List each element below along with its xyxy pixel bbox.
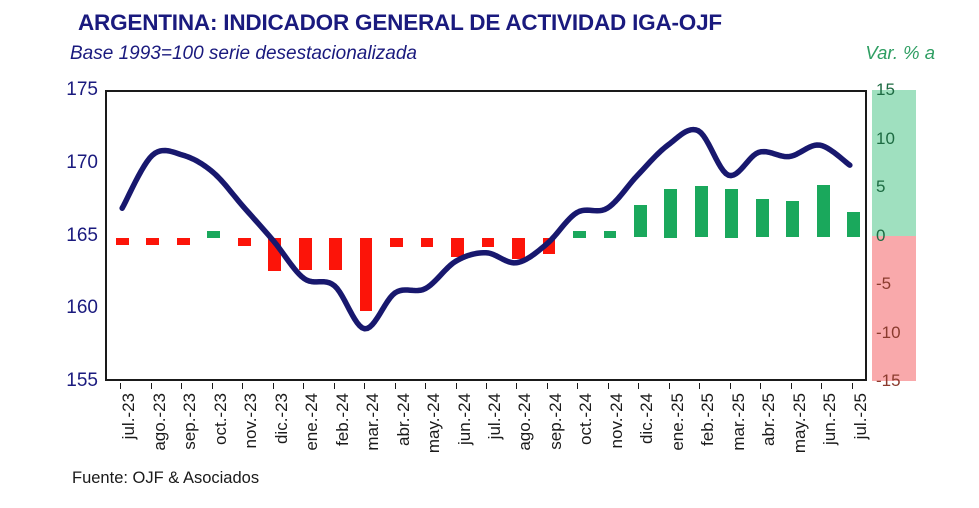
x-tick-mark	[364, 383, 365, 389]
x-tick-mark	[791, 383, 792, 389]
left-axis: 175170165160155	[38, 90, 98, 381]
x-axis-label: may.-25	[790, 393, 810, 477]
right-axis-tick-15: 15	[876, 81, 914, 98]
x-tick-mark	[242, 383, 243, 389]
x-axis-label: ago.-24	[515, 393, 535, 477]
right-axis-tick-5: 5	[876, 178, 914, 195]
x-axis-label: dic.-23	[272, 393, 292, 477]
x-tick-mark	[608, 383, 609, 389]
x-tick-mark	[151, 383, 152, 389]
left-axis-tick-165: 165	[46, 226, 98, 245]
x-axis-label: nov.-24	[607, 393, 627, 477]
right-axis-negative-band	[872, 236, 916, 382]
x-tick-mark	[821, 383, 822, 389]
x-tick-mark	[456, 383, 457, 389]
x-axis-label: ago.-23	[150, 393, 170, 477]
x-tick-mark	[577, 383, 578, 389]
right-axis-tick-0: 0	[876, 227, 914, 244]
chart-subtitle: Base 1993=100 serie desestacionalizada	[70, 43, 417, 65]
left-axis-tick-175: 175	[46, 80, 98, 99]
x-axis-label: ene.-24	[302, 393, 322, 477]
x-axis-label: mar.-25	[729, 393, 749, 477]
x-tick-mark	[638, 383, 639, 389]
x-tick-mark	[730, 383, 731, 389]
x-axis-label: jun.-25	[820, 393, 840, 477]
x-tick-mark	[395, 383, 396, 389]
x-tick-mark	[547, 383, 548, 389]
x-axis-label: jul.-25	[851, 393, 871, 477]
right-axis: 151050-5-10-15	[872, 90, 916, 381]
x-tick-mark	[486, 383, 487, 389]
right-axis-title: Var. % a	[865, 42, 935, 64]
x-axis-label: dic.-24	[637, 393, 657, 477]
x-axis-label: oct.-23	[211, 393, 231, 477]
x-axis-label: feb.-24	[333, 393, 353, 477]
x-axis-label: sep.-23	[180, 393, 200, 477]
right-axis-tick--10: -10	[876, 324, 914, 341]
x-tick-mark	[852, 383, 853, 389]
x-tick-mark	[425, 383, 426, 389]
right-axis-tick--15: -15	[876, 372, 914, 389]
plot-area	[105, 90, 867, 381]
right-axis-tick--5: -5	[876, 275, 914, 292]
x-axis-label: may.-24	[424, 393, 444, 477]
right-axis-tick-10: 10	[876, 130, 914, 147]
right-axis-positive-band	[872, 90, 916, 236]
x-axis-label: sep.-24	[546, 393, 566, 477]
x-tick-mark	[181, 383, 182, 389]
x-axis-label: jul.-23	[119, 393, 139, 477]
x-axis-label: jul.-24	[485, 393, 505, 477]
x-axis-label: mar.-24	[363, 393, 383, 477]
source-note: Fuente: OJF & Asociados	[72, 469, 259, 488]
page-title: ARGENTINA: INDICADOR GENERAL DE ACTIVIDA…	[78, 10, 722, 36]
x-tick-mark	[669, 383, 670, 389]
left-axis-tick-160: 160	[46, 298, 98, 317]
left-axis-tick-170: 170	[46, 153, 98, 172]
x-axis: jul.-23ago.-23sep.-23oct.-23nov.-23dic.-…	[105, 383, 867, 478]
x-axis-label: nov.-23	[241, 393, 261, 477]
left-axis-tick-155: 155	[46, 371, 98, 390]
index-line-path	[122, 130, 850, 329]
x-tick-mark	[516, 383, 517, 389]
x-axis-label: feb.-25	[698, 393, 718, 477]
x-tick-mark	[334, 383, 335, 389]
x-axis-label: oct.-24	[576, 393, 596, 477]
chart-page: ARGENTINA: INDICADOR GENERAL DE ACTIVIDA…	[0, 0, 979, 508]
x-tick-mark	[699, 383, 700, 389]
x-axis-label: ene.-25	[668, 393, 688, 477]
x-tick-mark	[120, 383, 121, 389]
x-tick-mark	[760, 383, 761, 389]
x-tick-mark	[273, 383, 274, 389]
x-tick-mark	[303, 383, 304, 389]
x-axis-label: jun.-24	[455, 393, 475, 477]
x-tick-mark	[212, 383, 213, 389]
x-axis-label: abr.-24	[394, 393, 414, 477]
line-series-layer	[107, 92, 865, 379]
x-axis-label: abr.-25	[759, 393, 779, 477]
